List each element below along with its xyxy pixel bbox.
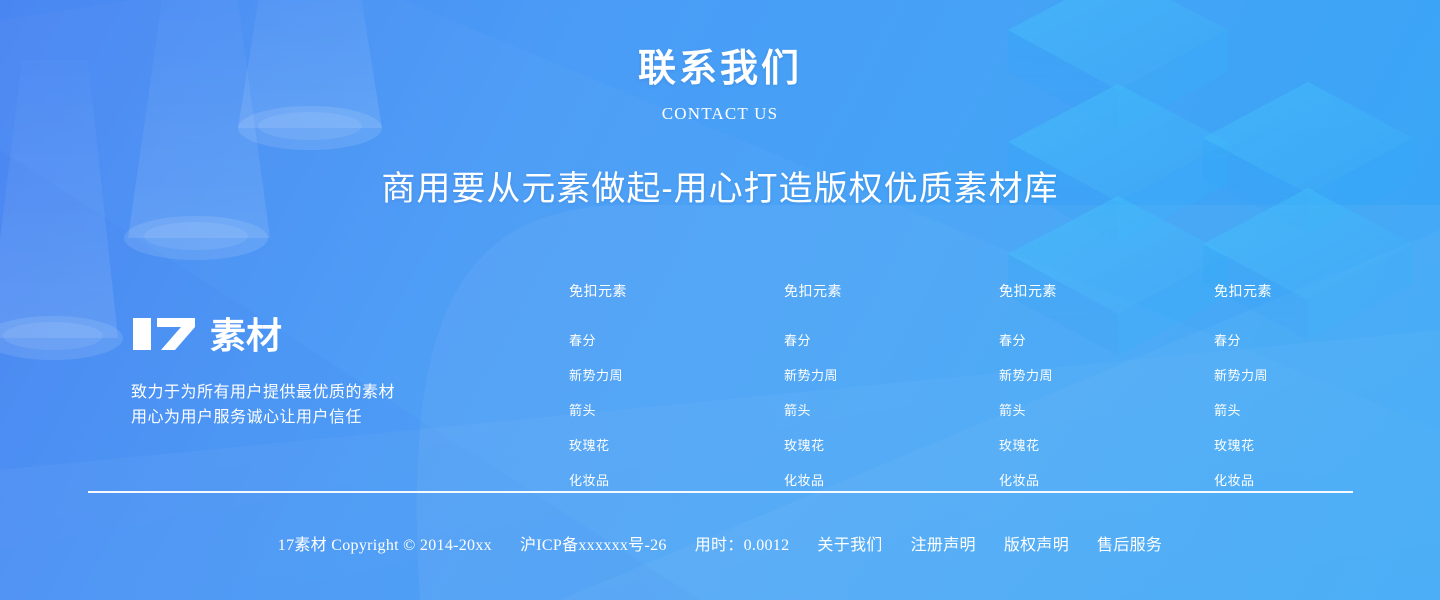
footer-link[interactable]: 玫瑰花 <box>569 435 610 454</box>
elapsed-time: 用时：0.0012 <box>695 531 790 555</box>
list-item: 春分 <box>784 330 999 350</box>
footer-link[interactable]: 新势力周 <box>569 365 623 384</box>
brand-description-line2: 用心为用户服务诚心让用户信任 <box>131 405 531 430</box>
footer-link-service[interactable]: 售后服务 <box>1097 531 1162 555</box>
list-item: 箭头 <box>1214 400 1429 420</box>
link-list: 春分 新势力周 箭头 玫瑰花 化妆品 <box>1214 330 1429 490</box>
footer-link[interactable]: 箭头 <box>1214 400 1241 419</box>
list-item: 新势力周 <box>784 365 999 385</box>
list-item: 春分 <box>569 330 784 350</box>
list-item: 箭头 <box>999 400 1214 420</box>
list-item: 箭头 <box>569 400 784 420</box>
footer-link[interactable]: 箭头 <box>569 400 596 419</box>
list-item: 玫瑰花 <box>569 435 784 455</box>
list-item: 箭头 <box>784 400 999 420</box>
brand-description: 致力于为所有用户提供最优质的素材 用心为用户服务诚心让用户信任 <box>131 380 531 430</box>
logo-17-mark <box>131 314 207 354</box>
link-column-title: 免扣元素 <box>1214 281 1429 301</box>
page-root: 联系我们 CONTACT US 商用要从元素做起-用心打造版权优质素材库 素材 … <box>0 0 1440 600</box>
footer-link-copyright[interactable]: 版权声明 <box>1004 531 1069 555</box>
link-column-title: 免扣元素 <box>784 281 999 301</box>
footer-link-about[interactable]: 关于我们 <box>817 531 882 555</box>
list-item: 化妆品 <box>999 470 1214 490</box>
footer-link[interactable]: 新势力周 <box>1214 365 1268 384</box>
link-column: 免扣元素 春分 新势力周 箭头 玫瑰花 化妆品 <box>999 281 1214 505</box>
footer-bar: 17素材 Copyright © 2014-20xx 沪ICP备xxxxxx号-… <box>0 531 1440 555</box>
footer-link[interactable]: 新势力周 <box>999 365 1053 384</box>
footer-link[interactable]: 春分 <box>784 330 811 349</box>
page-subtitle: CONTACT US <box>0 104 1440 124</box>
link-column: 免扣元素 春分 新势力周 箭头 玫瑰花 化妆品 <box>569 281 784 505</box>
footer-link[interactable]: 化妆品 <box>569 470 610 489</box>
link-columns: 免扣元素 春分 新势力周 箭头 玫瑰花 化妆品 免扣元素 春分 新势力周 箭头 … <box>569 281 1429 505</box>
footer-link[interactable]: 箭头 <box>999 400 1026 419</box>
footer-link[interactable]: 化妆品 <box>999 470 1040 489</box>
list-item: 新势力周 <box>569 365 784 385</box>
link-column: 免扣元素 春分 新势力周 箭头 玫瑰花 化妆品 <box>784 281 999 505</box>
footer-link[interactable]: 春分 <box>1214 330 1241 349</box>
list-item: 玫瑰花 <box>784 435 999 455</box>
brand-block: 素材 致力于为所有用户提供最优质的素材 用心为用户服务诚心让用户信任 <box>131 312 531 430</box>
copyright-text: 17素材 Copyright © 2014-20xx <box>278 531 492 555</box>
list-item: 玫瑰花 <box>999 435 1214 455</box>
footer-link[interactable]: 玫瑰花 <box>1214 435 1255 454</box>
footer-link[interactable]: 箭头 <box>784 400 811 419</box>
footer-divider <box>88 491 1353 493</box>
list-item: 玫瑰花 <box>1214 435 1429 455</box>
footer-link[interactable]: 玫瑰花 <box>784 435 825 454</box>
brand-logo[interactable]: 素材 <box>131 312 531 354</box>
brand-word: 素材 <box>210 318 282 354</box>
link-column-title: 免扣元素 <box>999 281 1214 301</box>
link-column-title: 免扣元素 <box>569 281 784 301</box>
link-list: 春分 新势力周 箭头 玫瑰花 化妆品 <box>999 330 1214 490</box>
footer-link-registration[interactable]: 注册声明 <box>911 531 976 555</box>
link-list: 春分 新势力周 箭头 玫瑰花 化妆品 <box>784 330 999 490</box>
slogan-text: 商用要从元素做起-用心打造版权优质素材库 <box>0 161 1440 210</box>
footer-link[interactable]: 化妆品 <box>784 470 825 489</box>
link-column: 免扣元素 春分 新势力周 箭头 玫瑰花 化妆品 <box>1214 281 1429 505</box>
list-item: 新势力周 <box>1214 365 1429 385</box>
footer-link[interactable]: 春分 <box>569 330 596 349</box>
list-item: 化妆品 <box>1214 470 1429 490</box>
footer-link[interactable]: 玫瑰花 <box>999 435 1040 454</box>
footer-link[interactable]: 春分 <box>999 330 1026 349</box>
footer-link[interactable]: 化妆品 <box>1214 470 1255 489</box>
page-title: 联系我们 <box>0 46 1440 94</box>
icp-license[interactable]: 沪ICP备xxxxxx号-26 <box>520 531 667 555</box>
list-item: 春分 <box>999 330 1214 350</box>
list-item: 新势力周 <box>999 365 1214 385</box>
section-header: 联系我们 CONTACT US <box>0 46 1440 124</box>
content-wrapper: 联系我们 CONTACT US 商用要从元素做起-用心打造版权优质素材库 素材 … <box>0 0 1440 600</box>
list-item: 春分 <box>1214 330 1429 350</box>
footer-link[interactable]: 新势力周 <box>784 365 838 384</box>
list-item: 化妆品 <box>784 470 999 490</box>
link-list: 春分 新势力周 箭头 玫瑰花 化妆品 <box>569 330 784 490</box>
list-item: 化妆品 <box>569 470 784 490</box>
brand-description-line1: 致力于为所有用户提供最优质的素材 <box>131 380 531 405</box>
